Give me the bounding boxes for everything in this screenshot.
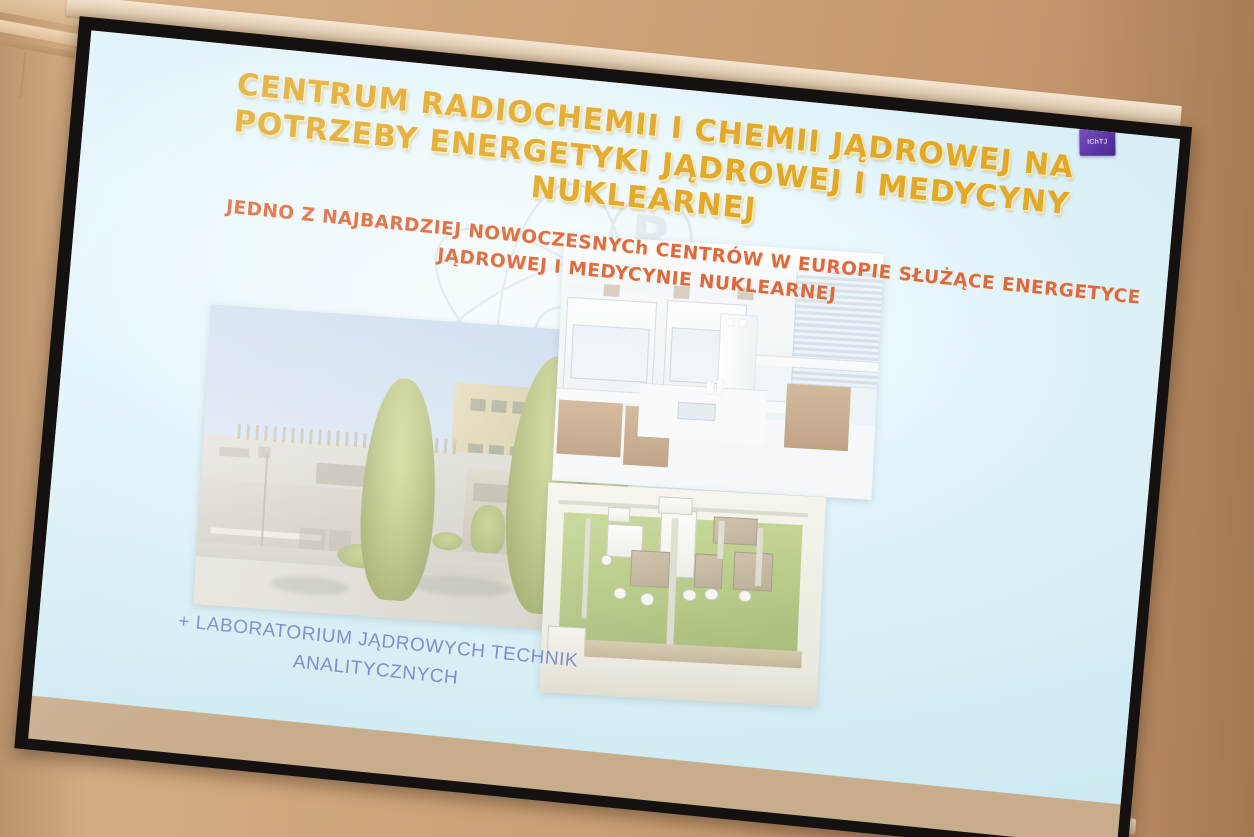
conference-room-scene: R IChTJ CENTRUM RADIOCHEMII I CHEMII JĄD… — [0, 0, 1254, 837]
institute-logo-label: IChTJ — [1087, 139, 1108, 146]
institute-logo-badge: IChTJ — [1079, 129, 1115, 156]
projector-screen-fabric: R IChTJ CENTRUM RADIOCHEMII I CHEMII JĄD… — [28, 30, 1180, 837]
projector-screen-assembly: R IChTJ CENTRUM RADIOCHEMII I CHEMII JĄD… — [0, 0, 1254, 837]
projector-screen-frame: R IChTJ CENTRUM RADIOCHEMII I CHEMII JĄD… — [14, 16, 1192, 837]
presentation-slide: R IChTJ CENTRUM RADIOCHEMII I CHEMII JĄD… — [32, 30, 1180, 804]
